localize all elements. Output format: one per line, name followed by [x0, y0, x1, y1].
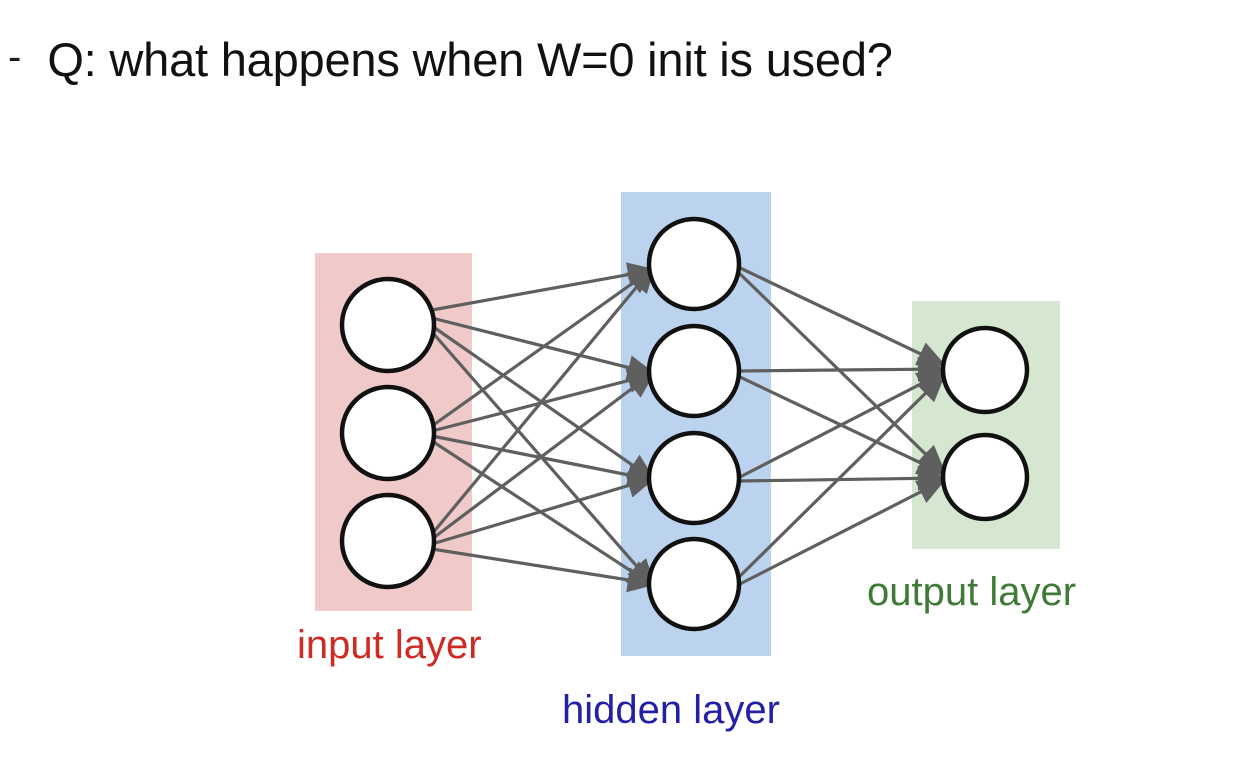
bullet-dash: -: [8, 37, 21, 83]
input-layer-label: input layer: [297, 625, 482, 665]
node-hidden-4: [649, 539, 739, 629]
node-hidden-2: [649, 326, 739, 416]
network-svg: [0, 120, 1252, 767]
slide-title: - Q: what happens when W=0 init is used?: [8, 24, 1208, 96]
neural-network-diagram: input layer hidden layer output layer: [0, 120, 1252, 767]
node-input-1: [342, 279, 434, 371]
node-output-2: [943, 435, 1027, 519]
page-title: Q: what happens when W=0 init is used?: [47, 35, 892, 84]
node-hidden-1: [649, 219, 739, 309]
node-input-2: [342, 387, 434, 479]
node-hidden-3: [649, 433, 739, 523]
output-layer-label: output layer: [867, 572, 1076, 612]
slide-canvas: - Q: what happens when W=0 init is used?: [0, 0, 1252, 767]
hidden-layer-label: hidden layer: [562, 690, 780, 730]
input-layer-nodes: [342, 279, 434, 587]
node-input-3: [342, 495, 434, 587]
node-output-1: [943, 328, 1027, 412]
